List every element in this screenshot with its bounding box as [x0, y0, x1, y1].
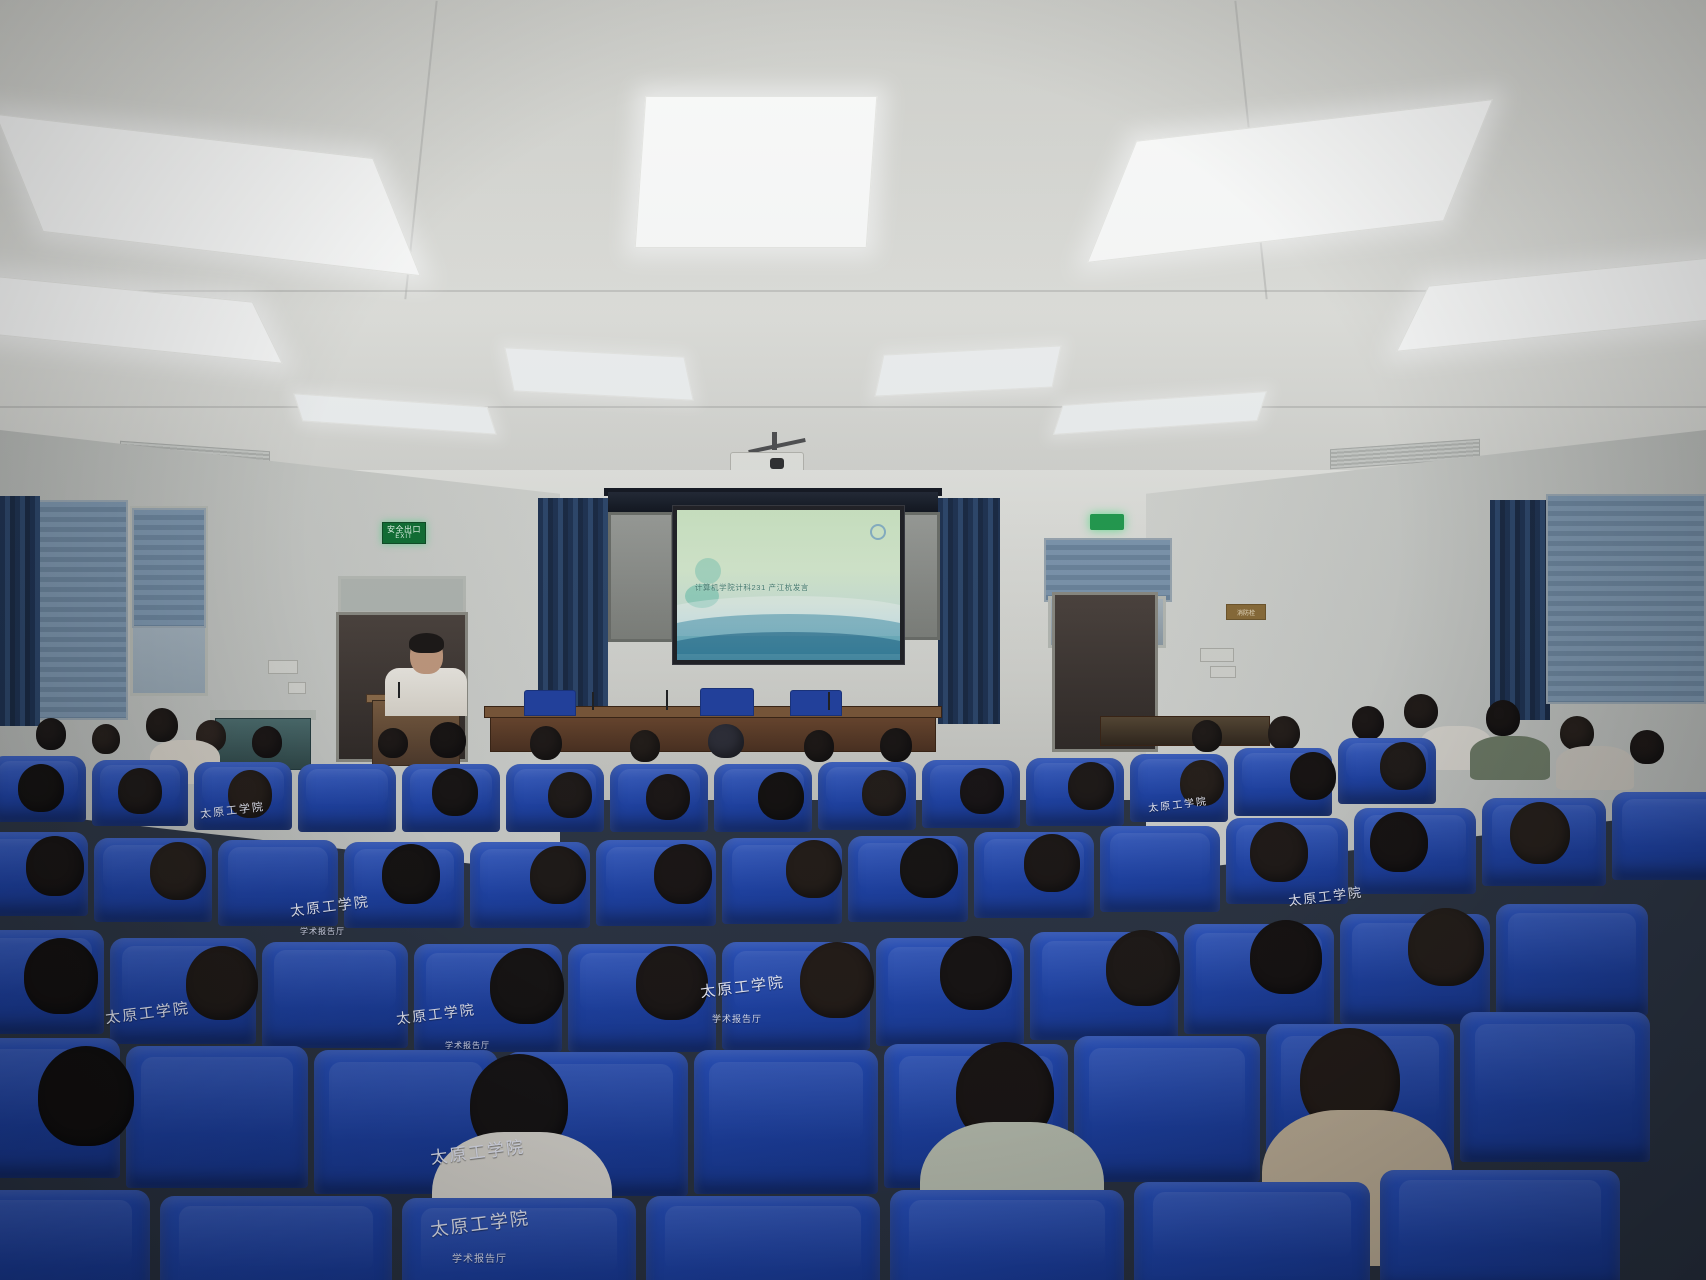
auditorium-seat[interactable] [126, 1046, 308, 1188]
audience-head [92, 724, 120, 754]
ceiling-light-panel [1396, 254, 1706, 352]
audience-head [530, 726, 562, 760]
audience-head [382, 844, 440, 904]
exit-sign-text-en: EXIT [395, 534, 412, 540]
audience-head [1024, 834, 1080, 892]
back-wall-panel-left [608, 512, 674, 642]
wall-plaque: 消防栓 [1226, 604, 1266, 620]
university-seal-icon [870, 524, 886, 540]
emergency-exit-light [1090, 514, 1124, 530]
slide-decoration [695, 558, 721, 584]
audience-head [1106, 930, 1180, 1006]
ceiling-seam [0, 406, 1706, 408]
ceiling-light-panel [1053, 391, 1267, 435]
audience-head [490, 948, 564, 1024]
audience-head [186, 946, 258, 1020]
audience-head [548, 772, 592, 818]
auditorium-seat[interactable] [1074, 1036, 1260, 1182]
auditorium-seat[interactable] [1134, 1182, 1370, 1280]
exit-sign-text-cn: 安全出口 [387, 526, 421, 534]
ceiling-light-panel [293, 393, 496, 434]
seat-brand-sub: 学术报告厅 [712, 1012, 762, 1025]
audience-head [786, 840, 842, 898]
right-curtain [1490, 500, 1550, 720]
audience-head [1180, 760, 1224, 806]
presenter-hair [409, 633, 444, 653]
auditorium-seat[interactable] [262, 942, 408, 1048]
audience-head [646, 774, 690, 820]
wall-outlet [268, 660, 298, 674]
audience-head [1290, 752, 1336, 800]
auditorium-seat[interactable] [1496, 904, 1648, 1016]
auditorium-seat[interactable] [646, 1196, 880, 1280]
audience-head [1068, 762, 1114, 810]
audience-head [1250, 822, 1308, 882]
audience-area: 太原工学院 太原工学院 太原工学院 学术报告厅 太原工学院 [0, 690, 1706, 1280]
ceiling-light-panel [0, 114, 421, 276]
audience-head [800, 942, 874, 1018]
left-door-transom [338, 576, 466, 614]
ceiling-light-panel [635, 96, 878, 248]
audience-head [432, 768, 478, 816]
wall-outlet [1210, 666, 1236, 678]
audience-head [1370, 812, 1428, 872]
auditorium-seat[interactable] [402, 1198, 636, 1280]
audience-head [1510, 802, 1570, 864]
auditorium-seat[interactable] [218, 840, 338, 926]
projector-lens-icon [770, 458, 784, 469]
slide-title-text: 计算机学院计科231 产江杭发言 [695, 582, 891, 593]
audience-head [118, 768, 162, 814]
audience-head [654, 844, 712, 904]
auditorium-seat[interactable] [1100, 826, 1220, 912]
ceiling-light-panel [1087, 99, 1493, 263]
audience-head [1352, 706, 1384, 740]
audience-head [940, 936, 1012, 1010]
seat-brand-sub: 学术报告厅 [452, 1250, 507, 1265]
audience-head [228, 770, 272, 818]
audience-head [430, 722, 466, 758]
audience-head [1486, 700, 1520, 736]
audience-head [636, 946, 708, 1020]
audience-head [708, 724, 744, 758]
auditorium-seat[interactable] [160, 1196, 392, 1280]
audience-head [150, 842, 206, 900]
audience-head [1268, 716, 1300, 750]
audience-head [18, 764, 64, 812]
auditorium-seat[interactable] [1460, 1012, 1650, 1162]
audience-head [36, 718, 66, 750]
auditorium-seat[interactable] [694, 1050, 878, 1194]
auditorium-seat[interactable] [1380, 1170, 1620, 1280]
back-wall-panel-right [900, 512, 940, 640]
exit-sign-left: 安全出口 EXIT [382, 522, 426, 544]
audience-head [38, 1046, 134, 1146]
audience-head [1192, 720, 1222, 752]
audience-head [1250, 920, 1322, 994]
audience-head [758, 772, 804, 820]
audience-shoulders [1556, 746, 1634, 790]
audience-head [1560, 716, 1594, 750]
ceiling-light-panel [875, 345, 1062, 396]
lecture-hall-photo: 安全出口 EXIT 计算机学院计科231 产江杭发言 消防栓 [0, 0, 1706, 1280]
audience-head [24, 938, 98, 1014]
auditorium-seat[interactable] [1612, 792, 1706, 880]
audience-head [378, 728, 408, 758]
auditorium-seat[interactable] [890, 1190, 1124, 1280]
right-window-blinds [1546, 494, 1706, 704]
audience-head [1404, 694, 1438, 728]
audience-shoulders [1470, 736, 1550, 780]
projection-screen: 计算机学院计科231 产江杭发言 [672, 505, 905, 665]
audience-head [1408, 908, 1484, 986]
audience-head [630, 730, 660, 762]
ceiling-light-panel [504, 347, 693, 400]
audience-head [146, 708, 178, 742]
wall-outlet [1200, 648, 1234, 662]
audience-head [26, 836, 84, 896]
audience-head [960, 768, 1004, 814]
audience-head [530, 846, 586, 904]
audience-head [880, 728, 912, 762]
audience-head [804, 730, 834, 762]
seat-brand-sub: 学术报告厅 [445, 1040, 490, 1051]
auditorium-seat[interactable] [0, 1190, 150, 1280]
audience-head [862, 770, 906, 816]
audience-head [1630, 730, 1664, 764]
auditorium-seat[interactable] [298, 764, 396, 832]
audience-head [900, 838, 958, 898]
seat-brand-sub: 学术报告厅 [300, 926, 345, 937]
left-window-blinds [132, 508, 206, 628]
audience-head [1380, 742, 1426, 790]
ceiling [0, 0, 1706, 520]
presentation-slide: 计算机学院计科231 产江杭发言 [677, 510, 900, 660]
slide-wave [677, 632, 900, 660]
ceiling-light-panel [0, 270, 283, 364]
audience-head [252, 726, 282, 758]
